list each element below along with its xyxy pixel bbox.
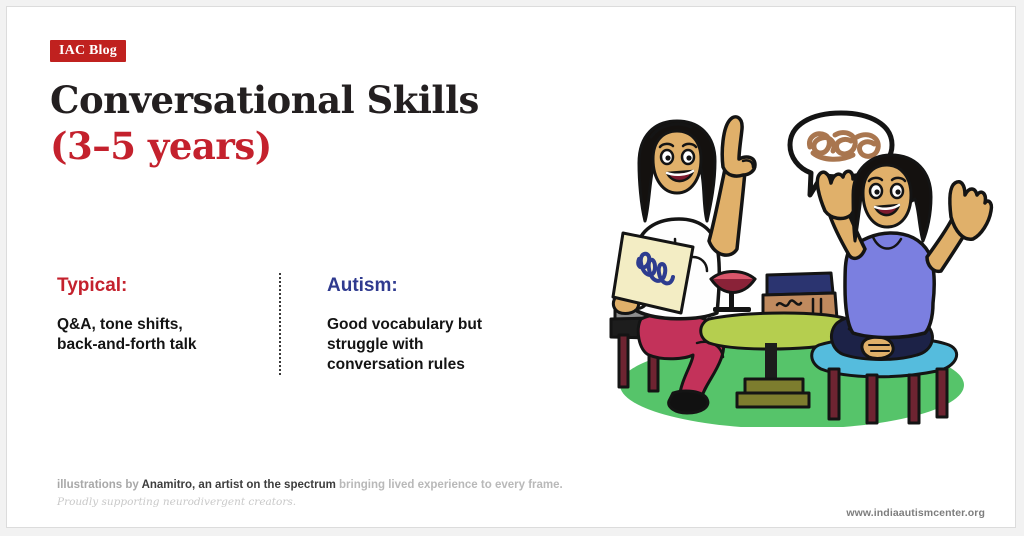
table-step-1 [745, 379, 803, 393]
boy-lap-hands [862, 337, 893, 358]
typical-column: Typical: Q&A, tone shifts, back-and-fort… [57, 275, 262, 355]
boy-right-hand [950, 182, 992, 240]
illustration-credit: illustrations by Anamitro, an artist on … [57, 478, 563, 492]
website-url[interactable]: www.indiaautismcenter.org [846, 507, 985, 519]
title-line-2: (3–5 years) [50, 123, 479, 169]
credit-suffix: bringing lived experience to every frame… [336, 479, 563, 491]
woman-pointing-hand [722, 117, 755, 176]
woman-shoe [669, 391, 708, 413]
table-step-2 [737, 393, 809, 407]
typical-body: Q&A, tone shifts, back-and-forth talk [57, 315, 262, 355]
autism-body: Good vocabulary but struggle with conver… [327, 315, 557, 375]
credit-prefix: illustrations by [57, 479, 142, 491]
autism-column: Autism: Good vocabulary but struggle wit… [327, 275, 557, 375]
boy-face [863, 165, 911, 227]
boy-figure [817, 155, 991, 360]
slide-card: IAC Blog Conversational Skills (3–5 year… [6, 6, 1016, 528]
iac-blog-badge: IAC Blog [50, 40, 126, 62]
credit-artist-name: Anamitro, an artist on the spectrum [142, 479, 336, 491]
page-title: Conversational Skills (3–5 years) [50, 77, 479, 169]
column-divider [279, 273, 281, 375]
title-line-1: Conversational Skills [50, 78, 479, 122]
woman-face [653, 131, 701, 193]
support-tagline: Proudly supporting neurodivergent creato… [57, 496, 296, 509]
flash-card [613, 233, 693, 313]
autism-heading: Autism: [327, 275, 557, 297]
therapist-and-child-conversation-illustration [597, 107, 997, 427]
typical-heading: Typical: [57, 275, 262, 297]
